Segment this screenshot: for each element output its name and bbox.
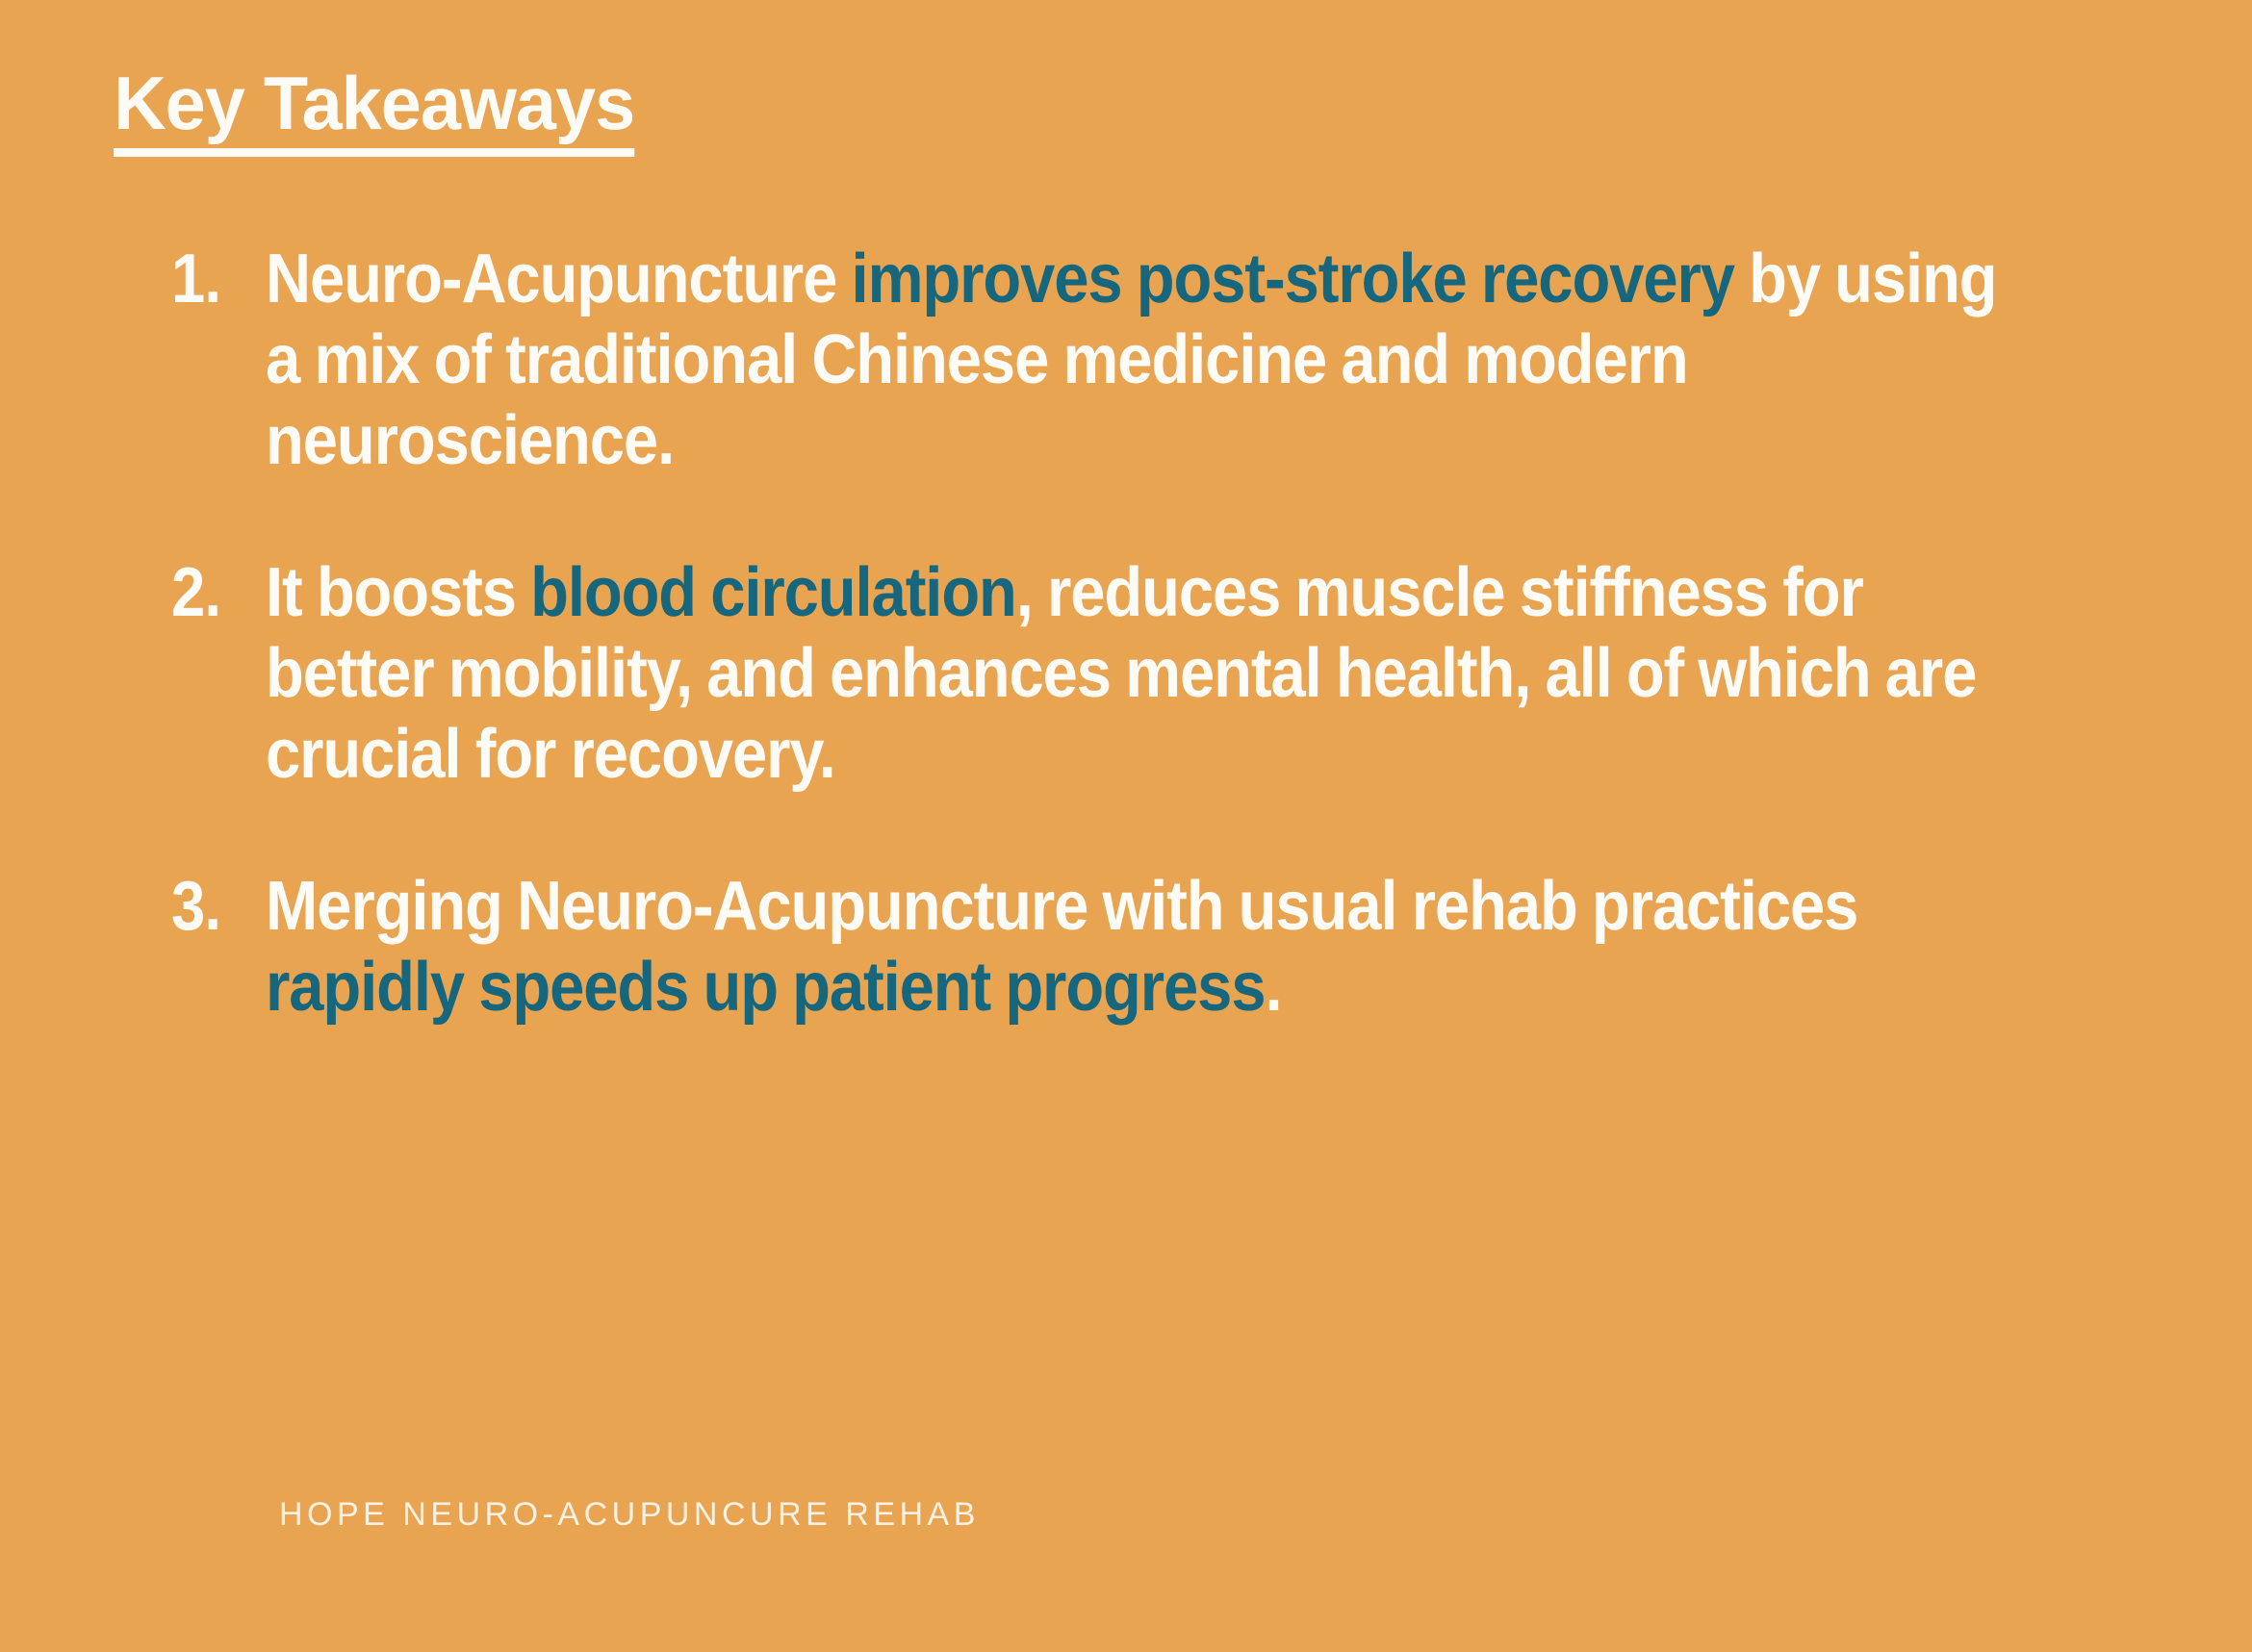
highlighted-text-segment: rapidly speeds up patient progress <box>266 949 1265 1026</box>
list-item: 1. Neuro-Acupuncture improves post-strok… <box>171 239 2192 481</box>
text-segment: . <box>1265 949 1281 1026</box>
page-title-container: Key Takeaways <box>114 65 651 157</box>
slide-canvas: Key Takeaways 1. Neuro-Acupuncture impro… <box>0 0 2252 1652</box>
list-item-number: 2. <box>171 552 254 633</box>
highlighted-text-segment: improves post-stroke recovery <box>852 241 1734 318</box>
takeaways-list: 1. Neuro-Acupuncture improves post-strok… <box>171 239 2192 1028</box>
list-item-number: 3. <box>171 866 254 947</box>
text-segment: Merging Neuro-Acupuncture with usual reh… <box>266 868 1857 945</box>
list-item: 3. Merging Neuro-Acupuncture with usual … <box>171 866 2192 1028</box>
list-item-text: Merging Neuro-Acupuncture with usual reh… <box>266 866 2009 1028</box>
list-item-text: It boosts blood circulation, reduces mus… <box>266 552 2009 795</box>
list-item-text: Neuro-Acupuncture improves post-stroke r… <box>266 239 2009 481</box>
list-item-number: 1. <box>171 239 254 319</box>
list-item: 2. It boosts blood circulation, reduces … <box>171 552 2192 795</box>
footer-brand: HOPE NEURO-ACUPUNCURE REHAB <box>279 1493 980 1536</box>
page-title: Key Takeaways <box>114 65 634 157</box>
text-segment: It boosts <box>266 554 530 631</box>
highlighted-text-segment: blood circulation <box>530 554 1016 631</box>
text-segment: Neuro-Acupuncture <box>266 241 852 318</box>
